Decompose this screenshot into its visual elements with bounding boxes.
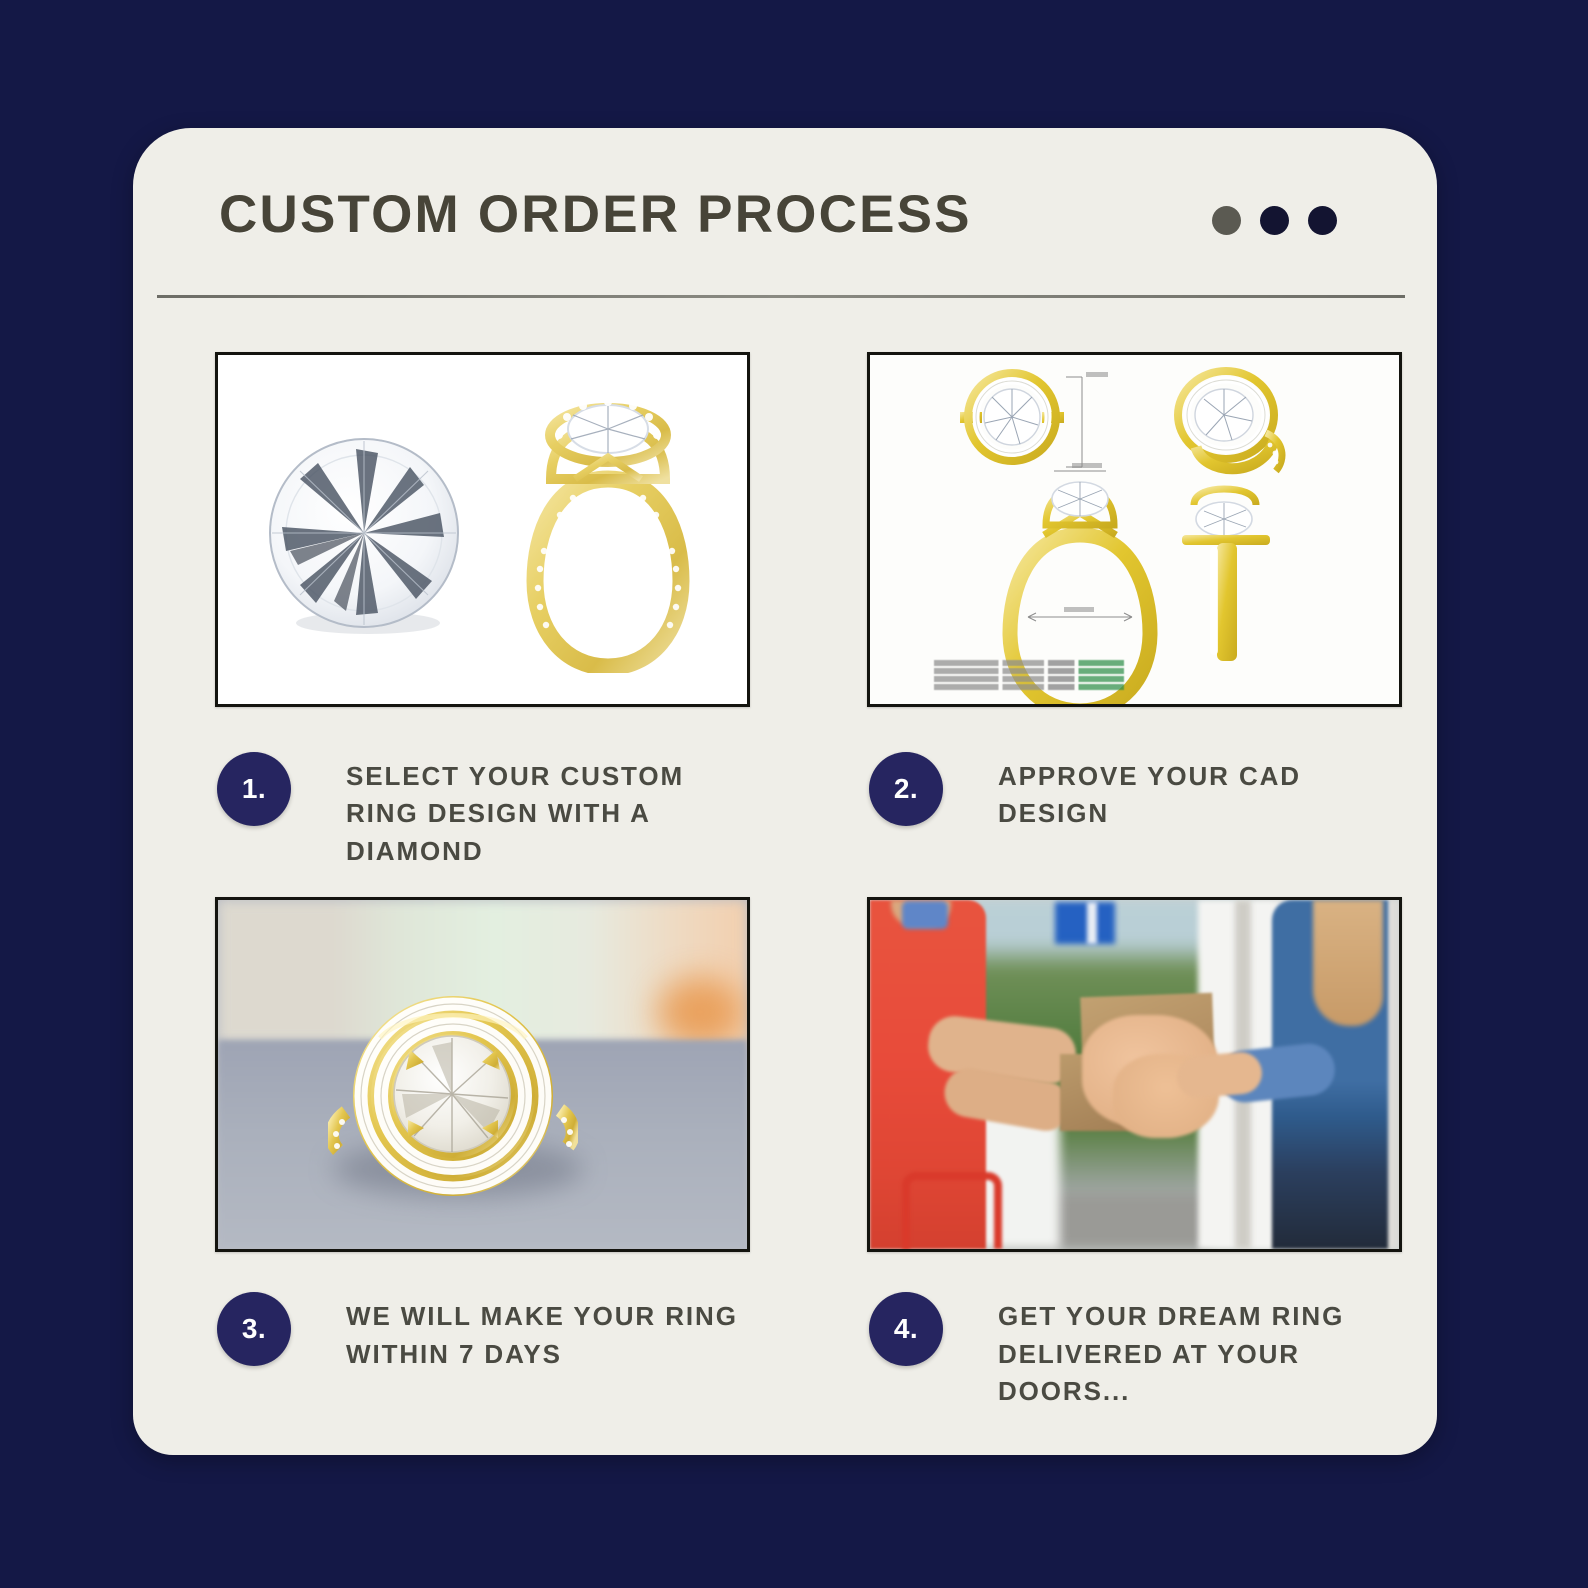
step-2-caption: APPROVE YOUR CAD DESIGN — [998, 758, 1409, 833]
step-1-caption-row: 1. SELECT YOUR CUSTOM RING DESIGN WITH A… — [217, 752, 757, 870]
gold-ring-profile-icon — [513, 383, 703, 673]
window-dot-minimize-icon[interactable] — [1212, 206, 1241, 235]
step-card-2: 2. APPROVE YOUR CAD DESIGN — [785, 333, 1437, 870]
step-4-caption: GET YOUR DREAM RING DELIVERED AT YOUR DO… — [998, 1298, 1409, 1410]
cad-drawing-icon — [870, 355, 1399, 704]
card-header: CUSTOM ORDER PROCESS — [133, 128, 1437, 296]
step-4-number-badge: 4. — [869, 1292, 943, 1366]
photo-bokeh-orange — [657, 977, 743, 1047]
step-card-4: 4. GET YOUR DREAM RING DELIVERED AT YOUR… — [785, 870, 1437, 1410]
step-3-image — [215, 897, 750, 1252]
window-dot-maximize-icon[interactable] — [1260, 206, 1289, 235]
steps-row-top: 1. SELECT YOUR CUSTOM RING DESIGN WITH A… — [133, 333, 1437, 870]
photo-hand-truck — [902, 1172, 1003, 1250]
header-divider — [157, 295, 1405, 298]
step-2-image — [867, 352, 1402, 707]
step-4-image — [867, 897, 1402, 1252]
step-2-number-badge: 2. — [869, 752, 943, 826]
photo-courier-face-mask — [902, 901, 948, 929]
custom-order-process-card: CUSTOM ORDER PROCESS — [133, 128, 1437, 1455]
finished-ring-icon — [328, 986, 578, 1206]
poster-canvas: CUSTOM ORDER PROCESS — [0, 0, 1588, 1588]
diamond-icon — [260, 433, 468, 641]
step-card-3: 3. WE WILL MAKE YOUR RING WITHIN 7 DAYS — [133, 870, 785, 1410]
window-controls[interactable] — [1212, 206, 1337, 235]
step-1-number-badge: 1. — [217, 752, 291, 826]
step-3-caption-row: 3. WE WILL MAKE YOUR RING WITHIN 7 DAYS — [217, 1292, 757, 1373]
step-card-1: 1. SELECT YOUR CUSTOM RING DESIGN WITH A… — [133, 333, 785, 870]
step-2-caption-row: 2. APPROVE YOUR CAD DESIGN — [869, 752, 1409, 833]
step-4-caption-row: 4. GET YOUR DREAM RING DELIVERED AT YOUR… — [869, 1292, 1409, 1410]
step-1-image — [215, 352, 750, 707]
step-1-caption: SELECT YOUR CUSTOM RING DESIGN WITH A DI… — [346, 758, 757, 870]
photo-recipient-hair — [1313, 900, 1383, 1026]
window-dot-close-icon[interactable] — [1308, 206, 1337, 235]
cad-spec-table — [934, 660, 1124, 696]
step-3-caption: WE WILL MAKE YOUR RING WITHIN 7 DAYS — [346, 1298, 757, 1373]
steps-row-bottom: 3. WE WILL MAKE YOUR RING WITHIN 7 DAYS — [133, 870, 1437, 1410]
steps-grid: 1. SELECT YOUR CUSTOM RING DESIGN WITH A… — [133, 333, 1437, 1411]
step-3-number-badge: 3. — [217, 1292, 291, 1366]
photo-recipient-forearm — [1175, 1050, 1263, 1099]
page-title: CUSTOM ORDER PROCESS — [219, 184, 972, 245]
